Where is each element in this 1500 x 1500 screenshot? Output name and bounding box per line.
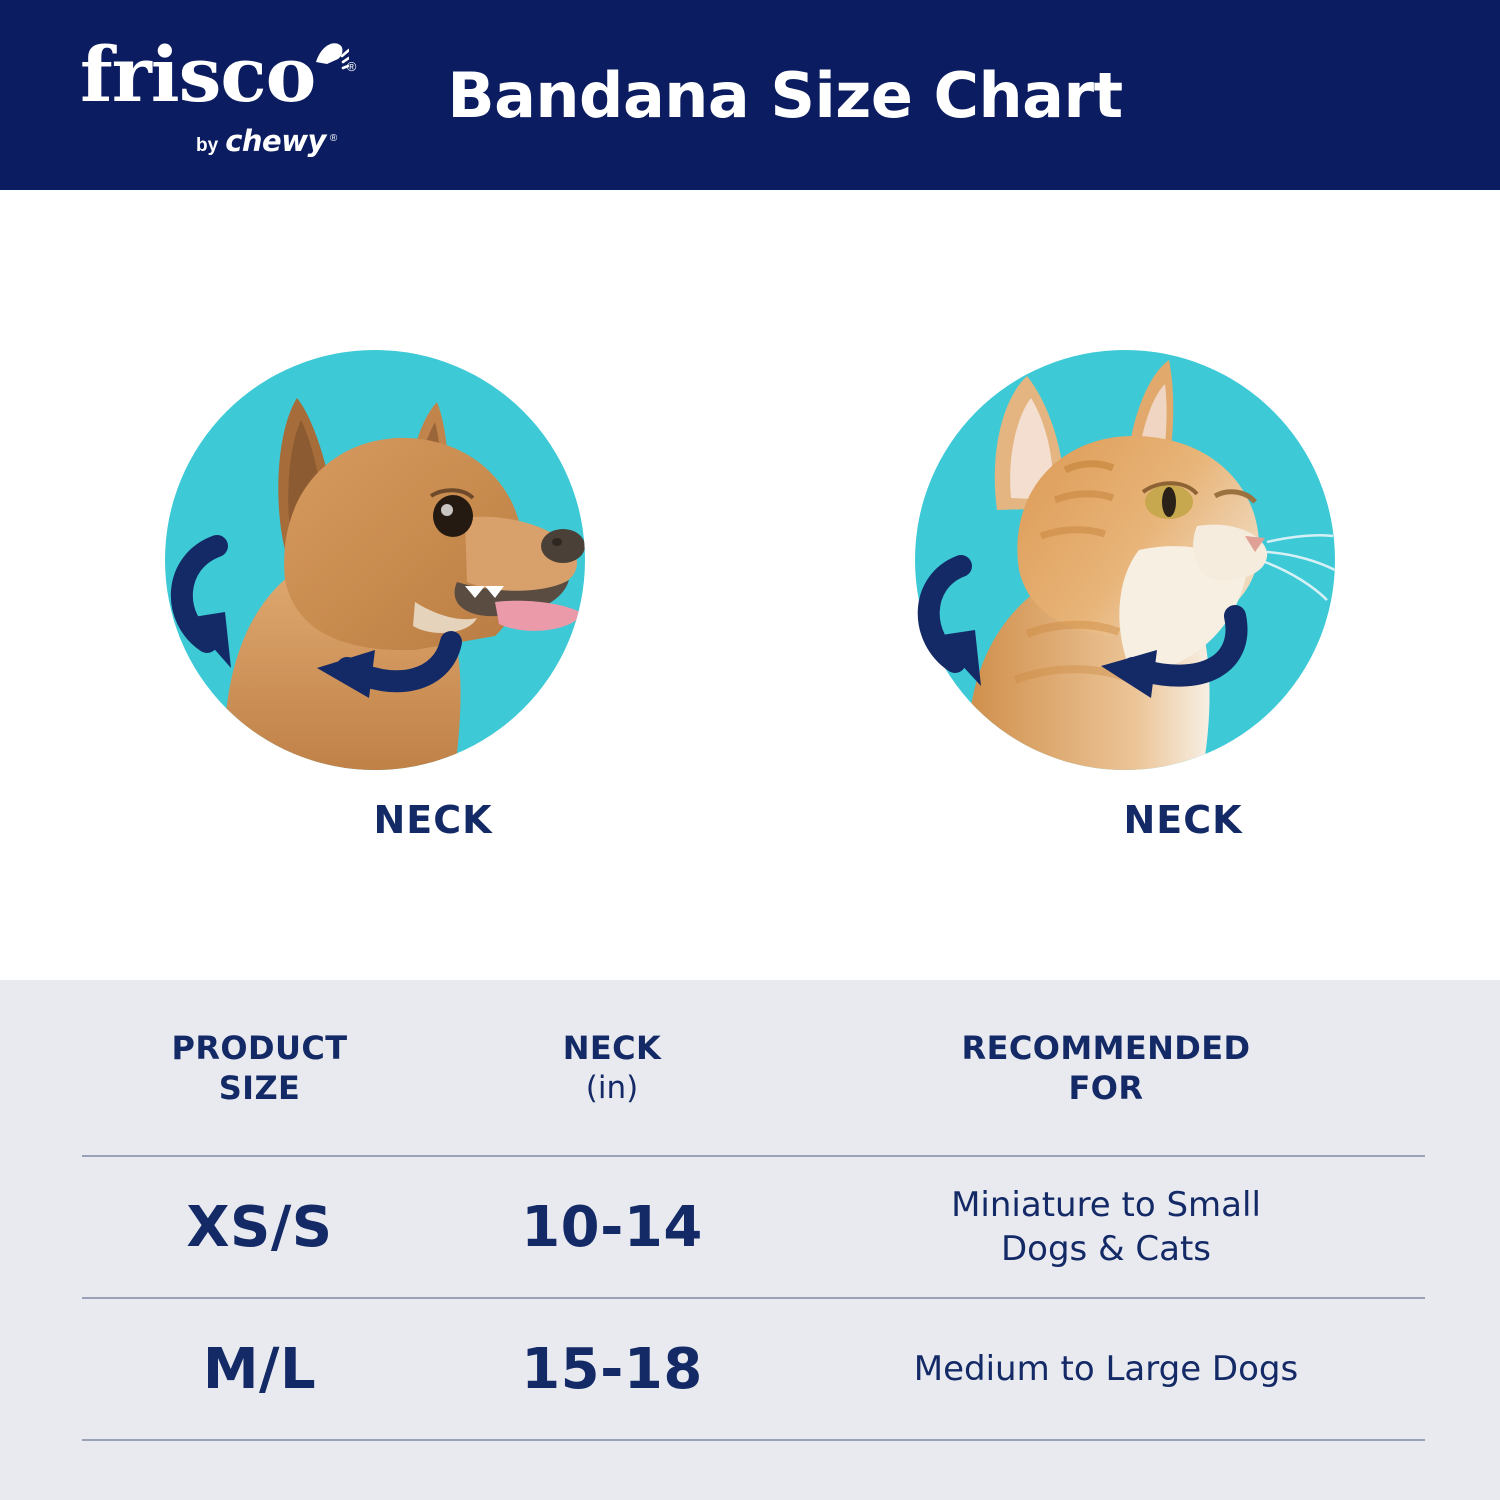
column-header-neck-unit: (in) xyxy=(437,1068,787,1108)
cell-recommended-for: Medium to Large Dogs xyxy=(787,1347,1425,1391)
table-divider-bottom xyxy=(82,1439,1425,1441)
cell-product-size: XS/S xyxy=(82,1195,437,1260)
size-table-inner: PRODUCT SIZE NECK (in) RECOMMENDED FOR X… xyxy=(82,980,1425,1441)
cell-recommended-for-line2: Dogs & Cats xyxy=(787,1227,1425,1271)
frisco-logo: frisco ® by chewy ® xyxy=(72,34,392,160)
cell-recommended-for-line1: Miniature to Small xyxy=(787,1183,1425,1227)
cell-neck-range: 10-14 xyxy=(437,1195,787,1260)
dog-neck-label: NECK xyxy=(373,798,492,842)
column-header-product-size-line1: PRODUCT xyxy=(82,1028,437,1068)
chewy-wordmark: chewy xyxy=(225,124,326,158)
chewy-registered-mark: ® xyxy=(330,133,337,144)
frisco-wordmark: frisco ® xyxy=(80,34,315,116)
column-header-recommended-for: RECOMMENDED FOR xyxy=(787,1028,1425,1108)
illustration-row: NECK xyxy=(0,190,1500,980)
dog-illustration xyxy=(165,350,585,770)
dog-photo-graphic xyxy=(165,350,585,770)
frisco-swoosh-icon xyxy=(315,40,349,80)
cat-illustration xyxy=(915,350,1335,770)
cell-recommended-for-line1: Medium to Large Dogs xyxy=(787,1347,1425,1391)
size-chart-page: frisco ® by chewy ® Bandana Size Chart xyxy=(0,0,1500,1500)
column-header-product-size-line2: SIZE xyxy=(82,1068,437,1108)
cell-product-size: M/L xyxy=(82,1337,437,1402)
table-row: XS/S 10-14 Miniature to Small Dogs & Cat… xyxy=(82,1157,1425,1297)
dog-panel: NECK xyxy=(0,190,750,980)
cat-photo-graphic xyxy=(915,350,1335,770)
cell-neck-range: 15-18 xyxy=(437,1337,787,1402)
table-row: M/L 15-18 Medium to Large Dogs xyxy=(82,1299,1425,1439)
column-header-recommended-for-line2: FOR xyxy=(787,1068,1425,1108)
frisco-registered-mark: ® xyxy=(347,26,356,108)
frisco-wordmark-text: frisco xyxy=(80,30,315,119)
header-bar: frisco ® by chewy ® Bandana Size Chart xyxy=(0,0,1500,190)
column-header-neck: NECK (in) xyxy=(437,1028,787,1108)
column-header-product-size: PRODUCT SIZE xyxy=(82,1028,437,1108)
byline-by-label: by xyxy=(196,135,218,157)
table-header-row: PRODUCT SIZE NECK (in) RECOMMENDED FOR xyxy=(82,980,1425,1155)
cell-recommended-for: Miniature to Small Dogs & Cats xyxy=(787,1183,1425,1271)
cat-panel: NECK xyxy=(750,190,1500,980)
column-header-neck-line1: NECK xyxy=(437,1028,787,1068)
cat-neck-label: NECK xyxy=(1123,798,1242,842)
size-table: PRODUCT SIZE NECK (in) RECOMMENDED FOR X… xyxy=(0,980,1500,1500)
frisco-byline: by chewy ® xyxy=(196,124,340,158)
column-header-recommended-for-line1: RECOMMENDED xyxy=(787,1028,1425,1068)
